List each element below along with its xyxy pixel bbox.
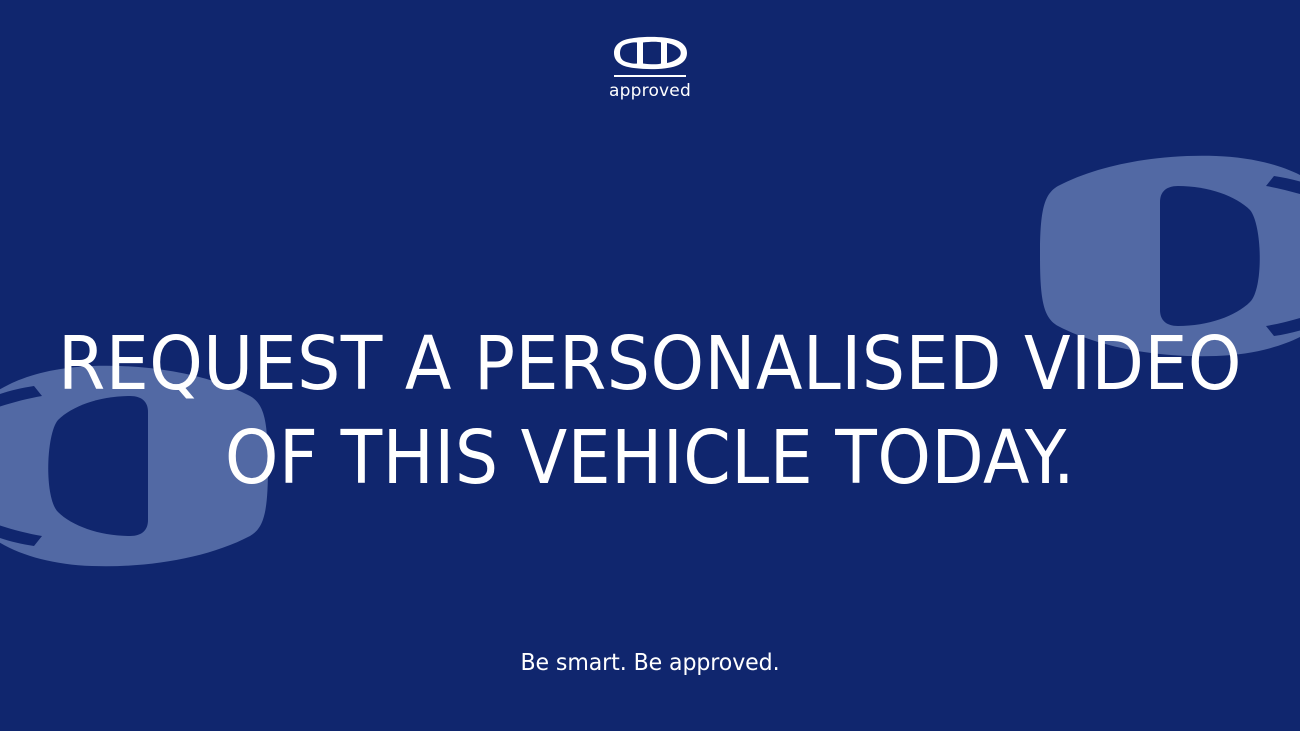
- brand-logo: approved: [0, 36, 1300, 100]
- headline-line-1: REQUEST A PERSONALISED VIDEO: [52, 318, 1248, 412]
- page-title: REQUEST A PERSONALISED VIDEO OF THIS VEH…: [52, 318, 1248, 506]
- logo-divider: [614, 75, 686, 77]
- headline-line-2: OF THIS VEHICLE TODAY.: [52, 412, 1248, 506]
- logo-wordmark: approved: [609, 83, 691, 100]
- promo-banner: approved REQUEST A PERSONALISED VIDEO OF…: [0, 0, 1300, 731]
- car-top-view-icon: [613, 36, 687, 70]
- brand-tagline: Be smart. Be approved.: [26, 652, 1274, 675]
